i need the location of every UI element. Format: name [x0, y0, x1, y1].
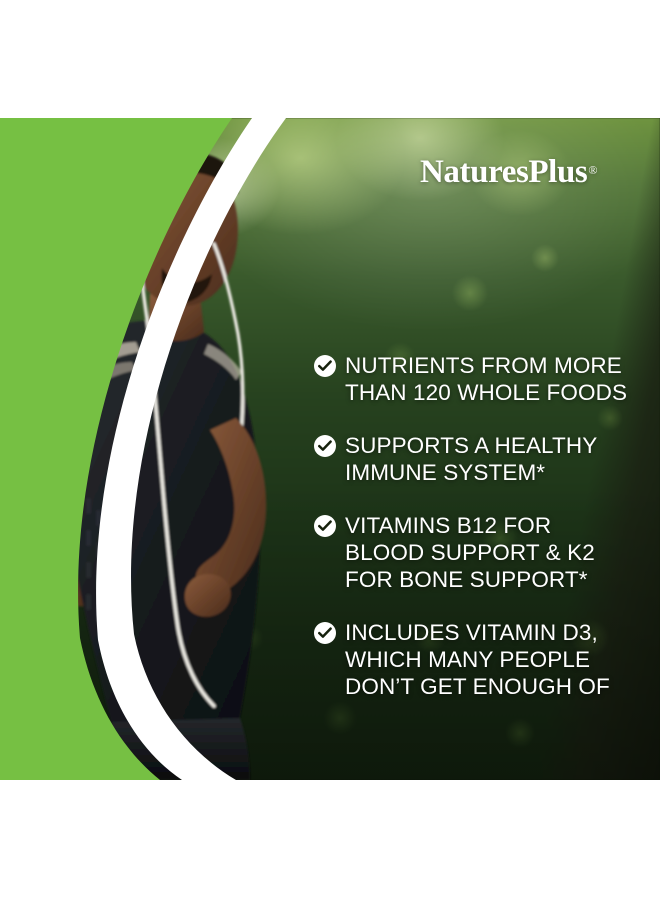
check-circle-icon — [314, 355, 336, 377]
registered-trademark-icon: ® — [588, 163, 597, 177]
benefit-item-label: INCLUDES VITAMIN D3, WHICH MANY PEOPLE D… — [345, 619, 610, 700]
brand-logo-text: NaturesPlus — [420, 154, 587, 190]
benefit-item: NUTRIENTS FROM MORE THAN 120 WHOLE FOODS — [314, 352, 654, 406]
benefit-list: NUTRIENTS FROM MORE THAN 120 WHOLE FOODS… — [314, 352, 654, 700]
benefit-item: INCLUDES VITAMIN D3, WHICH MANY PEOPLE D… — [314, 619, 654, 700]
benefit-item-label: SUPPORTS A HEALTHY IMMUNE SYSTEM* — [345, 432, 597, 486]
check-circle-icon — [314, 515, 336, 537]
benefit-item: VITAMINS B12 FOR BLOOD SUPPORT & K2 FOR … — [314, 512, 654, 593]
check-circle-icon — [314, 622, 336, 644]
brand-logo: NaturesPlus® — [420, 154, 597, 191]
check-circle-icon — [314, 435, 336, 457]
benefit-item-label: VITAMINS B12 FOR BLOOD SUPPORT & K2 FOR … — [345, 512, 595, 593]
product-benefit-banner: NaturesPlus® NUTRIENTS FROM MORE THAN 12… — [0, 0, 660, 900]
artwork-band: NaturesPlus® NUTRIENTS FROM MORE THAN 12… — [0, 118, 660, 780]
benefit-item-label: NUTRIENTS FROM MORE THAN 120 WHOLE FOODS — [345, 352, 627, 406]
benefit-item: SUPPORTS A HEALTHY IMMUNE SYSTEM* — [314, 432, 654, 486]
